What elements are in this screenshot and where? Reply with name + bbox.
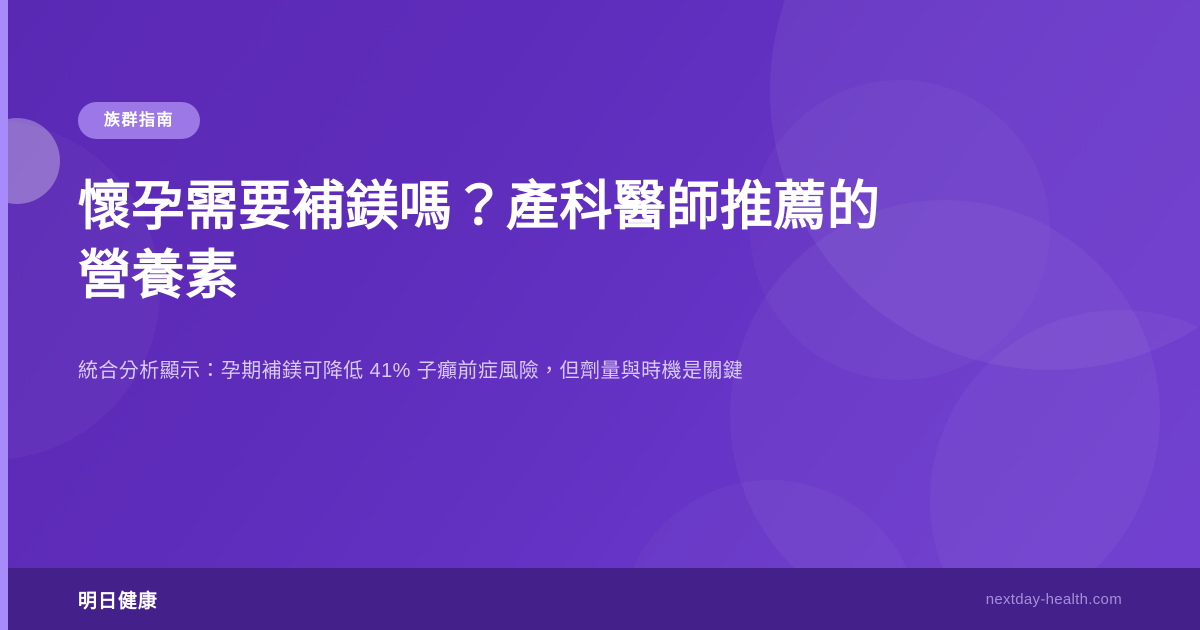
share-card: 族群指南 懷孕需要補鎂嗎？產科醫師推薦的營養素 統合分析顯示：孕期補鎂可降低 4…: [0, 0, 1200, 630]
page-subtitle: 統合分析顯示：孕期補鎂可降低 41% 子癲前症風險，但劑量與時機是關鍵: [78, 355, 958, 387]
brand-name: 明日健康: [78, 586, 158, 613]
left-accent-bar: [0, 0, 8, 630]
page-title: 懷孕需要補鎂嗎？產科醫師推薦的營養素: [78, 173, 908, 311]
category-badge[interactable]: 族群指南: [78, 102, 200, 139]
footer-bar: 明日健康 nextday-health.com: [0, 568, 1200, 630]
card-content: 族群指南 懷孕需要補鎂嗎？產科醫師推薦的營養素 統合分析顯示：孕期補鎂可降低 4…: [0, 0, 1200, 568]
site-domain: nextday-health.com: [986, 591, 1122, 608]
